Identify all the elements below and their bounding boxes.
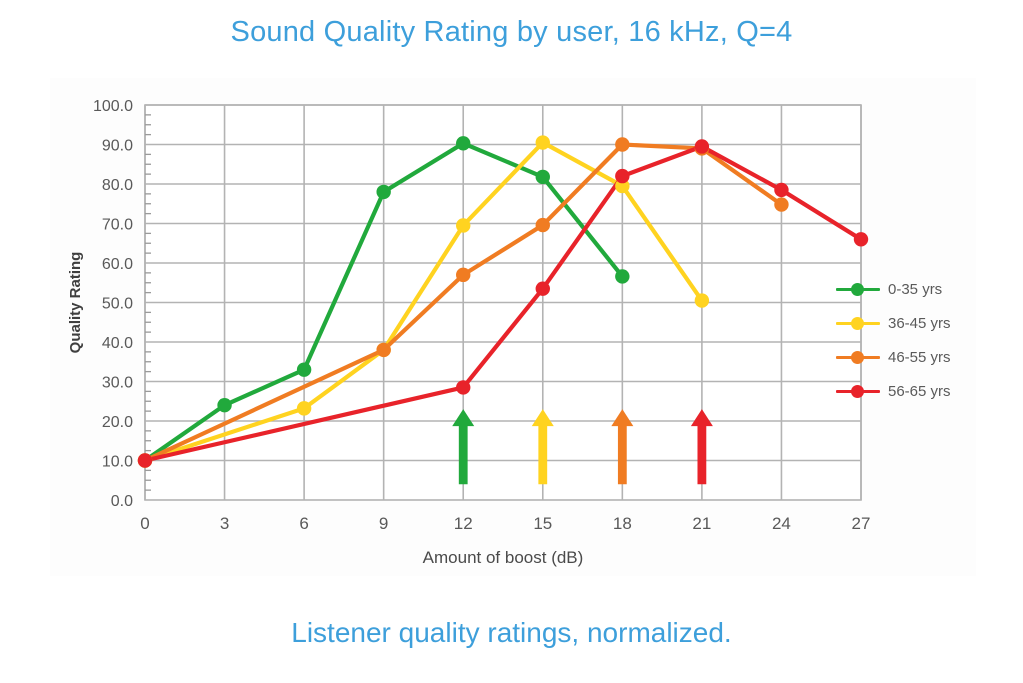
x-axis-tick-label: 21 xyxy=(692,514,711,533)
data-point-36-45-yrs[interactable] xyxy=(297,401,311,415)
y-axis-tick-label: 40.0 xyxy=(102,335,133,352)
data-point-36-45-yrs[interactable] xyxy=(695,293,709,307)
y-axis-title: Quality Rating xyxy=(67,252,84,354)
data-point-0-35-yrs[interactable] xyxy=(536,170,550,184)
data-point-46-55-yrs[interactable] xyxy=(456,268,470,282)
data-point-46-55-yrs[interactable] xyxy=(376,343,390,357)
x-axis-tick-label: 15 xyxy=(533,514,552,533)
data-point-36-45-yrs[interactable] xyxy=(456,218,470,232)
legend-item-36-45[interactable]: 36-45 yrs xyxy=(836,306,1016,340)
x-axis-tick-label: 9 xyxy=(379,514,388,533)
legend-label: 56-65 yrs xyxy=(888,383,951,400)
legend-swatch-icon xyxy=(836,350,880,364)
y-axis-tick-label: 60.0 xyxy=(102,256,133,273)
legend-label: 36-45 yrs xyxy=(888,315,951,332)
data-point-0-35-yrs[interactable] xyxy=(456,136,470,150)
chart-caption: Listener quality ratings, normalized. xyxy=(0,617,1023,649)
legend-item-56-65[interactable]: 56-65 yrs xyxy=(836,374,1016,408)
data-point-36-45-yrs[interactable] xyxy=(536,135,550,149)
data-point-56-65-yrs[interactable] xyxy=(615,169,629,183)
x-axis-tick-label: 24 xyxy=(772,514,791,533)
y-axis-tick-label: 100.0 xyxy=(93,98,133,115)
legend-item-46-55[interactable]: 46-55 yrs xyxy=(836,340,1016,374)
legend-swatch-icon xyxy=(836,384,880,398)
data-point-56-65-yrs[interactable] xyxy=(774,183,788,197)
y-axis-tick-label: 80.0 xyxy=(102,177,133,194)
page-title: Sound Quality Rating by user, 16 kHz, Q=… xyxy=(0,16,1023,49)
x-axis-tick-label: 0 xyxy=(140,514,149,533)
data-point-0-35-yrs[interactable] xyxy=(376,185,390,199)
page-root: Sound Quality Rating by user, 16 kHz, Q=… xyxy=(0,0,1023,683)
y-axis-tick-label: 30.0 xyxy=(102,375,133,392)
data-point-46-55-yrs[interactable] xyxy=(774,197,788,211)
x-axis-tick-label: 6 xyxy=(299,514,308,533)
legend-swatch-icon xyxy=(836,316,880,330)
data-point-0-35-yrs[interactable] xyxy=(615,269,629,283)
data-point-56-65-yrs[interactable] xyxy=(456,380,470,394)
y-axis-tick-label: 90.0 xyxy=(102,138,133,155)
data-point-46-55-yrs[interactable] xyxy=(615,137,629,151)
x-axis-tick-label: 27 xyxy=(852,514,871,533)
x-axis-tick-label: 12 xyxy=(454,514,473,533)
data-point-46-55-yrs[interactable] xyxy=(536,218,550,232)
x-axis-title: Amount of boost (dB) xyxy=(423,548,584,567)
data-point-0-35-yrs[interactable] xyxy=(217,398,231,412)
legend-swatch-icon xyxy=(836,282,880,296)
y-axis-tick-label: 20.0 xyxy=(102,414,133,431)
legend-label: 46-55 yrs xyxy=(888,349,951,366)
legend-item-0-35[interactable]: 0-35 yrs xyxy=(836,272,1016,306)
legend-label: 0-35 yrs xyxy=(888,281,942,298)
y-axis-tick-label: 50.0 xyxy=(102,296,133,313)
chart-legend: 0-35 yrs 36-45 yrs 46-55 yrs 56-65 yrs xyxy=(836,272,1016,408)
y-axis-tick-label: 10.0 xyxy=(102,454,133,471)
y-axis-tick-label: 70.0 xyxy=(102,217,133,234)
data-point-0-35-yrs[interactable] xyxy=(297,362,311,376)
data-point-56-65-yrs[interactable] xyxy=(138,453,152,467)
x-axis-tick-label: 3 xyxy=(220,514,229,533)
data-point-56-65-yrs[interactable] xyxy=(695,139,709,153)
data-point-56-65-yrs[interactable] xyxy=(854,232,868,246)
y-axis-tick-label: 0.0 xyxy=(111,493,133,510)
x-axis-tick-label: 18 xyxy=(613,514,632,533)
data-point-56-65-yrs[interactable] xyxy=(536,281,550,295)
